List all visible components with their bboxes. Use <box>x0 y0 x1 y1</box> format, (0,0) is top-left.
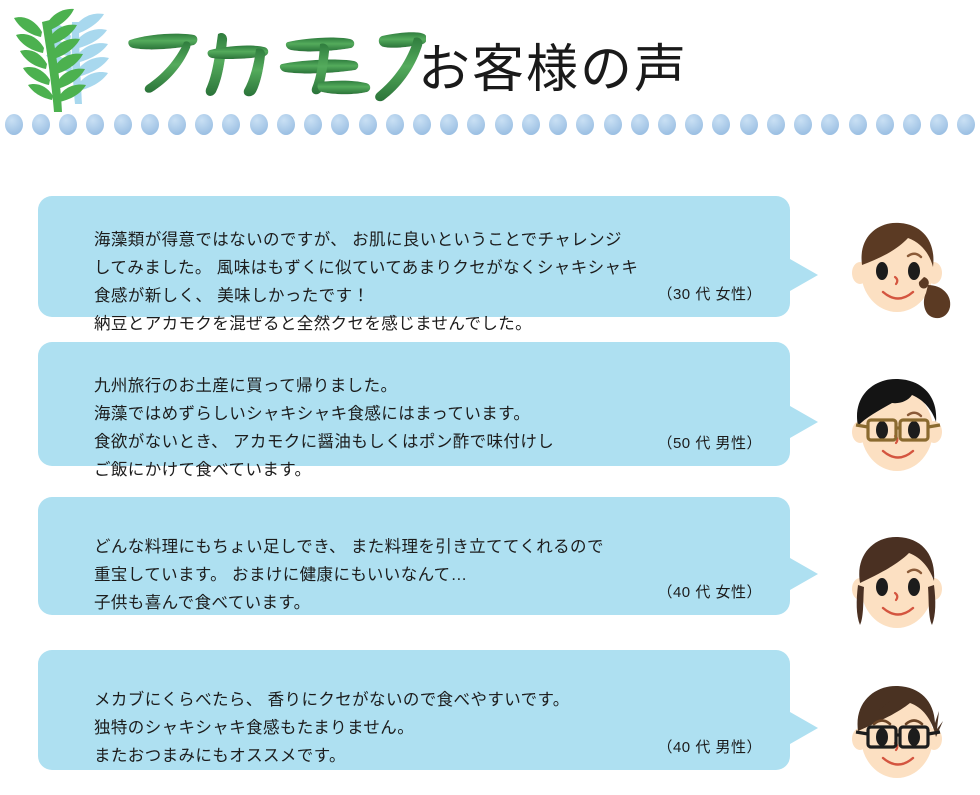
circle-dot-icon <box>740 114 758 135</box>
circle-dot-icon <box>658 114 676 135</box>
page-header: お客様の声 <box>0 0 980 112</box>
testimonial-list: 海藻類が得意ではないのですが、 お肌に良いということでチャレンジしてみました。 … <box>0 137 980 783</box>
seaweed-frond-icon <box>12 4 120 116</box>
circle-dot-icon <box>549 114 567 135</box>
circle-dot-icon <box>277 114 295 135</box>
testimonial-demographic: （40 代 男性） <box>657 738 762 758</box>
circle-dot-icon <box>767 114 785 135</box>
avatar-man-glasses-black-hair <box>838 370 956 488</box>
circle-dot-icon <box>604 114 622 135</box>
bubble-tail <box>790 558 818 590</box>
circle-dot-icon <box>141 114 159 135</box>
testimonial-text: 九州旅行のお土産に買って帰りました。海藻ではめずらしいシャキシャキ食感にはまって… <box>94 358 764 484</box>
circle-dot-icon <box>59 114 77 135</box>
brand-logotype <box>126 22 426 108</box>
circle-dot-icon <box>222 114 240 135</box>
circle-dot-icon <box>304 114 322 135</box>
testimonial-line: 九州旅行のお土産に買って帰りました。 <box>94 372 764 400</box>
testimonial-text: 海藻類が得意ではないのですが、 お肌に良いということでチャレンジしてみました。 … <box>94 212 764 338</box>
avatar-woman-bob <box>838 527 956 645</box>
testimonial-bubble: 九州旅行のお土産に買って帰りました。海藻ではめずらしいシャキシャキ食感にはまって… <box>38 342 790 466</box>
testimonial-line: ご飯にかけて食べています。 <box>94 456 764 484</box>
circle-dot-icon <box>32 114 50 135</box>
circle-dot-icon <box>195 114 213 135</box>
testimonial-line: 納豆とアカモクを混ぜると全然クセを感じませんでした。 <box>94 310 764 338</box>
testimonial-demographic: （50 代 男性） <box>657 434 762 454</box>
testimonial-line: どんな料理にもちょい足しでき、 また料理を引き立ててくれるので <box>94 533 764 561</box>
testimonial-line: してみました。 風味はもずくに似ていてあまりクセがなくシャキシャキ <box>94 254 764 282</box>
circle-dot-icon <box>631 114 649 135</box>
bubble-tail <box>790 712 818 744</box>
circle-dot-icon <box>440 114 458 135</box>
circle-dot-icon <box>903 114 921 135</box>
circle-dot-icon <box>331 114 349 135</box>
circle-dot-icon <box>495 114 513 135</box>
circle-dot-icon <box>685 114 703 135</box>
circle-dot-icon <box>5 114 23 135</box>
circle-dot-icon <box>86 114 104 135</box>
circle-dot-icon <box>114 114 132 135</box>
testimonial-bubble: 海藻類が得意ではないのですが、 お肌に良いということでチャレンジしてみました。 … <box>38 196 790 317</box>
testimonial-line: 海藻ではめずらしいシャキシャキ食感にはまっています。 <box>94 400 764 428</box>
circle-dot-icon <box>712 114 730 135</box>
circle-dot-icon <box>849 114 867 135</box>
testimonial-demographic: （30 代 女性） <box>657 285 762 305</box>
testimonial-bubble: どんな料理にもちょい足しでき、 また料理を引き立ててくれるので重宝しています。 … <box>38 497 790 615</box>
circle-dot-icon <box>930 114 948 135</box>
circle-dot-icon <box>576 114 594 135</box>
bubble-tail <box>790 259 818 291</box>
circle-dot-icon <box>413 114 431 135</box>
circle-dot-icon <box>957 114 975 135</box>
circle-dot-icon <box>794 114 812 135</box>
page-title: お客様の声 <box>418 40 688 102</box>
circle-dot-icon <box>386 114 404 135</box>
circle-dot-icon <box>467 114 485 135</box>
circle-dot-icon <box>821 114 839 135</box>
testimonial-line: 海藻類が得意ではないのですが、 お肌に良いということでチャレンジ <box>94 226 764 254</box>
avatar-man-spiky-glasses <box>838 677 956 795</box>
testimonial-line: メカブにくらべたら、 香りにクセがないので食べやすいです。 <box>94 686 764 714</box>
circle-dot-icon <box>250 114 268 135</box>
circle-dot-icon <box>522 114 540 135</box>
circle-dot-icon <box>876 114 894 135</box>
testimonial-demographic: （40 代 女性） <box>657 583 762 603</box>
circle-dot-icon <box>359 114 377 135</box>
bubble-tail <box>790 406 818 438</box>
avatar-woman-ponytail <box>838 211 956 329</box>
circle-dot-icon <box>168 114 186 135</box>
dot-divider <box>0 113 980 137</box>
testimonial-bubble: メカブにくらべたら、 香りにクセがないので食べやすいです。独特のシャキシャキ食感… <box>38 650 790 770</box>
